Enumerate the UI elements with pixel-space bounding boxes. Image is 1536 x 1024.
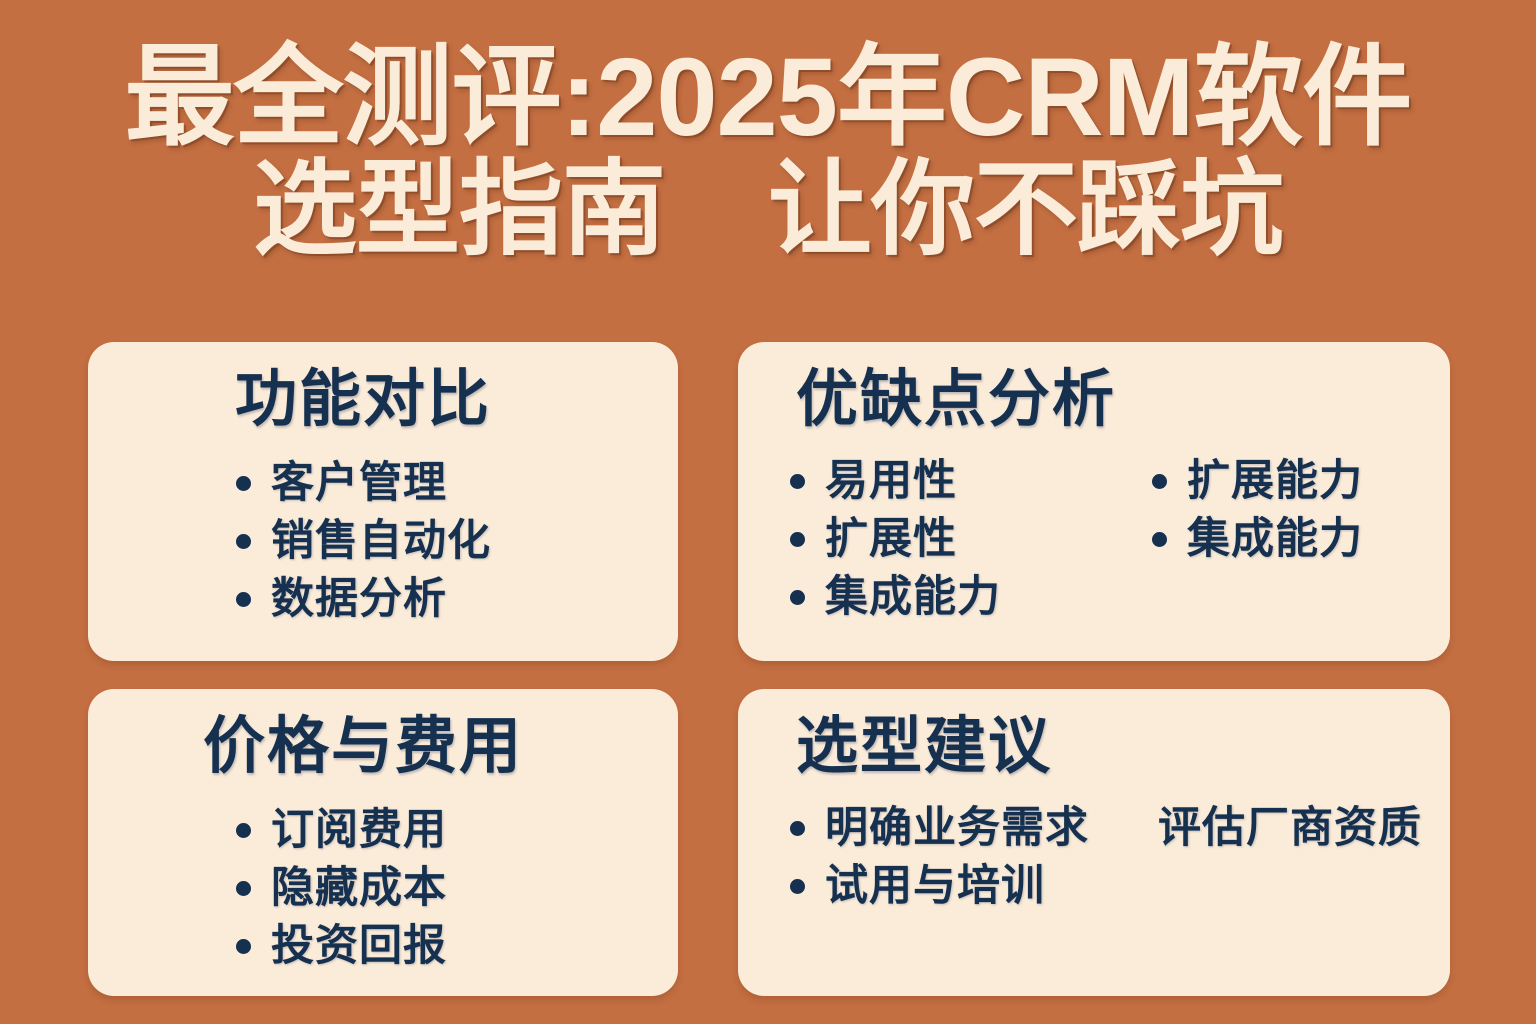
list-item: 销售自动化 [236, 512, 650, 570]
poster-title-line-2: 选型指南 让你不踩坑 [0, 154, 1536, 266]
bullet-columns: 易用性 扩展性 集成能力 扩展能力 [766, 452, 1422, 626]
bullet-dot-icon [236, 592, 251, 607]
bullet-dot-icon [236, 534, 251, 549]
list-item-label: 明确业务需求 [825, 803, 1089, 853]
list-item: 集成能力 [1152, 510, 1363, 568]
list-item: 隐藏成本 [236, 859, 650, 917]
list-item-label: 扩展性 [825, 514, 957, 564]
poster-header: 最全测评:2025年CRM软件 选型指南 让你不踩坑 [0, 42, 1536, 266]
list-item-label: 数据分析 [271, 574, 447, 624]
bullet-dot-icon [790, 474, 805, 489]
bullet-dot-icon [1152, 532, 1167, 547]
card-feature-comparison[interactable]: 功能对比 客户管理 销售自动化 数据分析 [88, 342, 678, 661]
bullet-dot-icon [790, 532, 805, 547]
bullet-column-left: 明确业务需求 试用与培训 [790, 799, 1105, 915]
bullet-dot-icon [790, 590, 805, 605]
list-item: 订阅费用 [236, 801, 650, 859]
card-title: 功能对比 [116, 362, 650, 438]
list-item-label: 销售自动化 [271, 516, 491, 566]
poster-canvas: 最全测评:2025年CRM软件 选型指南 让你不踩坑 功能对比 客户管理 销售自… [0, 0, 1536, 1024]
bullet-dot-icon [790, 879, 805, 894]
bullet-list: 客户管理 销售自动化 数据分析 [116, 454, 650, 628]
list-item: 评估厂商资质 [1123, 799, 1422, 857]
list-item: 易用性 [790, 452, 1130, 510]
list-item: 数据分析 [236, 570, 650, 628]
list-item-label: 投资回报 [271, 921, 447, 971]
card-title: 选型建议 [766, 709, 1422, 785]
list-item: 集成能力 [790, 568, 1130, 626]
bullet-list: 订阅费用 隐藏成本 投资回报 [116, 801, 650, 975]
list-item: 扩展能力 [1152, 452, 1363, 510]
list-item-label: 试用与培训 [825, 861, 1045, 911]
list-item-label: 隐藏成本 [271, 863, 447, 913]
card-grid: 功能对比 客户管理 销售自动化 数据分析 优缺点分析 [88, 342, 1450, 996]
list-item: 试用与培训 [790, 857, 1105, 915]
bullet-dot-icon [236, 881, 251, 896]
bullet-column-left: 易用性 扩展性 集成能力 [790, 452, 1130, 626]
card-selection-advice[interactable]: 选型建议 明确业务需求 试用与培训 评估厂商资质 [738, 689, 1450, 996]
bullet-dot-icon [1152, 474, 1167, 489]
card-price-and-cost[interactable]: 价格与费用 订阅费用 隐藏成本 投资回报 [88, 689, 678, 996]
poster-title-line-1: 最全测评:2025年CRM软件 [0, 42, 1536, 154]
list-item-label: 订阅费用 [271, 805, 447, 855]
bullet-dot-icon [236, 823, 251, 838]
card-title: 优缺点分析 [766, 362, 1422, 438]
card-pros-cons-analysis[interactable]: 优缺点分析 易用性 扩展性 集成能力 [738, 342, 1450, 661]
list-item-label: 评估厂商资质 [1158, 803, 1422, 853]
list-item-label: 客户管理 [271, 458, 447, 508]
bullet-column-right: 评估厂商资质 [1105, 799, 1422, 915]
list-item: 明确业务需求 [790, 799, 1105, 857]
bullet-columns: 明确业务需求 试用与培训 评估厂商资质 [766, 799, 1422, 915]
bullet-column-right: 扩展能力 集成能力 [1130, 452, 1363, 626]
list-item: 扩展性 [790, 510, 1130, 568]
list-item-label: 易用性 [825, 456, 957, 506]
list-item-label: 集成能力 [825, 572, 1001, 622]
list-item-label: 扩展能力 [1187, 456, 1363, 506]
card-title: 价格与费用 [116, 709, 650, 785]
bullet-dot-icon [236, 476, 251, 491]
bullet-dot-icon [790, 821, 805, 836]
list-item: 客户管理 [236, 454, 650, 512]
list-item-label: 集成能力 [1187, 514, 1363, 564]
list-item: 投资回报 [236, 917, 650, 975]
bullet-dot-icon [236, 939, 251, 954]
